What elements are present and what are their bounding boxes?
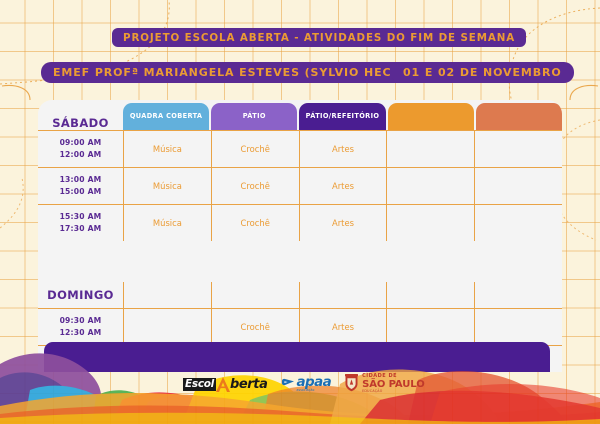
time-end: 17:30 AM <box>60 223 102 235</box>
activity-cell: Artes <box>299 309 387 345</box>
escola-aberta-logo-text-2: berta <box>230 378 268 391</box>
time-end: 12:00 AM <box>60 149 102 161</box>
table-header-row: SÁBADO QUADRA COBERTA PÁTIO PÁTIO/REFEIT… <box>38 100 562 130</box>
time-slot: 15:30 AM 17:30 AM <box>38 205 123 241</box>
time-end: 12:30 AM <box>60 327 102 339</box>
school-name-banner: EMEF PROFª MARIANGELA ESTEVES (SYLVIO HE… <box>41 62 419 83</box>
activity-cell: Música <box>123 168 211 204</box>
activity-cell: Artes <box>299 168 387 204</box>
table-row: 09:00 AM 12:00 AM Música Crochê Artes <box>38 130 562 167</box>
activity-cell: Artes <box>299 131 387 167</box>
time-slot: 09:00 AM 12:00 AM <box>38 131 123 167</box>
time-start: 13:00 AM <box>60 174 102 186</box>
schedule-table: SÁBADO QUADRA COBERTA PÁTIO PÁTIO/REFEIT… <box>38 100 562 366</box>
sao-paulo-coat-of-arms-icon <box>344 373 359 396</box>
table-row: 09:30 AM 12:30 AM Crochê Artes <box>38 308 562 345</box>
table-row: 13:00 AM 15:00 AM Música Crochê Artes <box>38 167 562 204</box>
dates-banner: 01 E 02 DE NOVEMBRO <box>391 62 574 83</box>
day-header-row-sunday: DOMINGO <box>38 282 562 308</box>
day-label-sunday: DOMINGO <box>38 282 123 308</box>
table-row: 15:30 AM 17:30 AM Música Crochê Artes <box>38 204 562 241</box>
apaa-logo-subtitle: associação <box>297 388 315 392</box>
band-spacer <box>38 241 562 282</box>
apaa-logo: apaa associação <box>281 375 332 394</box>
title-banner: PROJETO ESCOLA ABERTA - ATIVIDADES DO FI… <box>112 28 526 47</box>
column-header-quadra-coberta: QUADRA COBERTA <box>123 103 209 130</box>
activity-cell: Crochê <box>211 205 299 241</box>
column-header-patio: PÁTIO <box>211 103 297 130</box>
empty-cell <box>299 282 387 308</box>
empty-cell <box>123 282 211 308</box>
activity-cell: Música <box>123 131 211 167</box>
empty-cell <box>474 282 562 308</box>
escola-aberta-logo: Escol berta <box>183 376 268 393</box>
escola-aberta-a-icon <box>215 376 231 393</box>
activity-cell <box>474 205 562 241</box>
activity-cell <box>386 168 474 204</box>
activity-cell: Crochê <box>211 309 299 345</box>
activity-cell <box>474 131 562 167</box>
time-start: 09:00 AM <box>60 137 102 149</box>
apaa-logo-text: apaa <box>297 376 332 388</box>
time-slot: 09:30 AM 12:30 AM <box>38 309 123 345</box>
activity-cell: Crochê <box>211 168 299 204</box>
activity-cell <box>386 309 474 345</box>
time-slot: 13:00 AM 15:00 AM <box>38 168 123 204</box>
apaa-mark-icon <box>281 375 295 394</box>
activity-cell <box>474 309 562 345</box>
poster-canvas: PROJETO ESCOLA ABERTA - ATIVIDADES DO FI… <box>0 0 600 424</box>
logo-strip: Escol berta apaa associação <box>183 372 425 396</box>
column-header-patio-refeitorio: PÁTIO/REFEITÓRIO <box>299 103 385 130</box>
activity-cell: Crochê <box>211 131 299 167</box>
activity-cell: Artes <box>299 205 387 241</box>
time-start: 09:30 AM <box>60 315 102 327</box>
column-header-empty-1 <box>388 103 474 130</box>
activity-cell <box>386 131 474 167</box>
empty-cell <box>386 282 474 308</box>
activity-cell <box>386 205 474 241</box>
day-label-saturday: SÁBADO <box>38 116 123 130</box>
time-start: 15:30 AM <box>60 211 102 223</box>
activity-cell <box>123 309 211 345</box>
column-header-empty-2 <box>476 103 562 130</box>
column-header-pills: QUADRA COBERTA PÁTIO PÁTIO/REFEITÓRIO <box>123 103 562 130</box>
time-end: 15:00 AM <box>60 186 102 198</box>
sao-paulo-city-logo: CIDADE DE SÃO PAULO EDUCAÇÃO <box>344 373 425 396</box>
escola-aberta-logo-text-1: Escol <box>183 378 216 391</box>
sao-paulo-logo-line3: EDUCAÇÃO <box>362 390 425 393</box>
empty-cell <box>211 282 299 308</box>
activity-cell <box>474 168 562 204</box>
activity-cell: Música <box>123 205 211 241</box>
schedule-card: SÁBADO QUADRA COBERTA PÁTIO PÁTIO/REFEIT… <box>38 100 562 372</box>
